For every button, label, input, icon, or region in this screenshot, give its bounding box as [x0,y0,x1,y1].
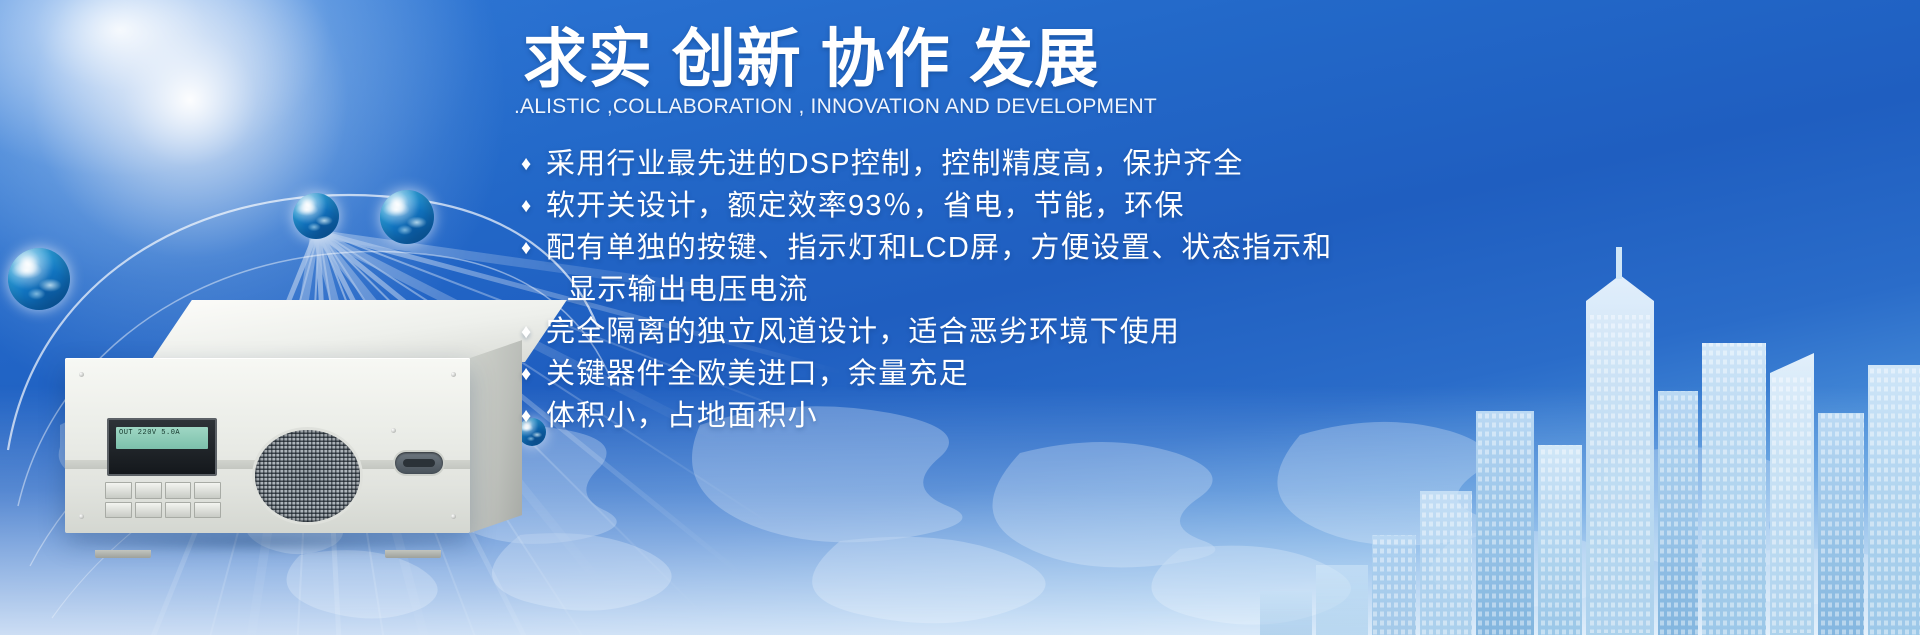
feature-list-item-continuation: 显示输出电压电流 [521,269,1481,311]
page-title: 求实 创新 协作 发展 [523,26,1243,93]
feature-list-item: ♦ 采用行业最先进的DSP控制，控制精度高，保护齐全 [521,143,1481,185]
diamond-bullet-icon: ♦ [521,353,546,395]
page-subtitle: .ALISTIC ,COLLABORATION , INNOVATION AND… [514,95,1334,119]
banner-text-content: 求实 创新 协作 发展 .ALISTIC ,COLLABORATION , IN… [0,0,1920,635]
diamond-bullet-icon: ♦ [521,311,546,353]
feature-text: 配有单独的按键、指示灯和LCD屏，方便设置、状态指示和 [546,227,1332,269]
feature-list-item: ♦ 完全隔离的独立风道设计，适合恶劣环境下使用 [521,311,1481,353]
feature-list-item: ♦ 配有单独的按键、指示灯和LCD屏，方便设置、状态指示和 [521,227,1481,269]
feature-text: 显示输出电压电流 [567,269,809,311]
feature-list-item: ♦ 关键器件全欧美进口，余量充足 [521,353,1481,395]
diamond-bullet-icon: ♦ [521,143,546,185]
diamond-bullet-icon: ♦ [521,185,546,227]
feature-text: 关键器件全欧美进口，余量充足 [546,353,969,395]
feature-text: 软开关设计，额定效率93％，省电，节能，环保 [546,185,1185,227]
diamond-bullet-icon: ♦ [521,395,546,437]
diamond-bullet-icon: ♦ [521,227,546,269]
feature-text: 体积小，占地面积小 [546,395,818,437]
feature-text: 采用行业最先进的DSP控制，控制精度高，保护齐全 [546,143,1243,185]
feature-list-item: ♦ 体积小，占地面积小 [521,395,1481,437]
feature-list-item: ♦ 软开关设计，额定效率93％，省电，节能，环保 [521,185,1481,227]
feature-text: 完全隔离的独立风道设计，适合恶劣环境下使用 [546,311,1180,353]
promotional-banner: OUT 220V 5.0A [0,0,1920,635]
feature-list: ♦ 采用行业最先进的DSP控制，控制精度高，保护齐全 ♦ 软开关设计，额定效率9… [521,143,1481,437]
